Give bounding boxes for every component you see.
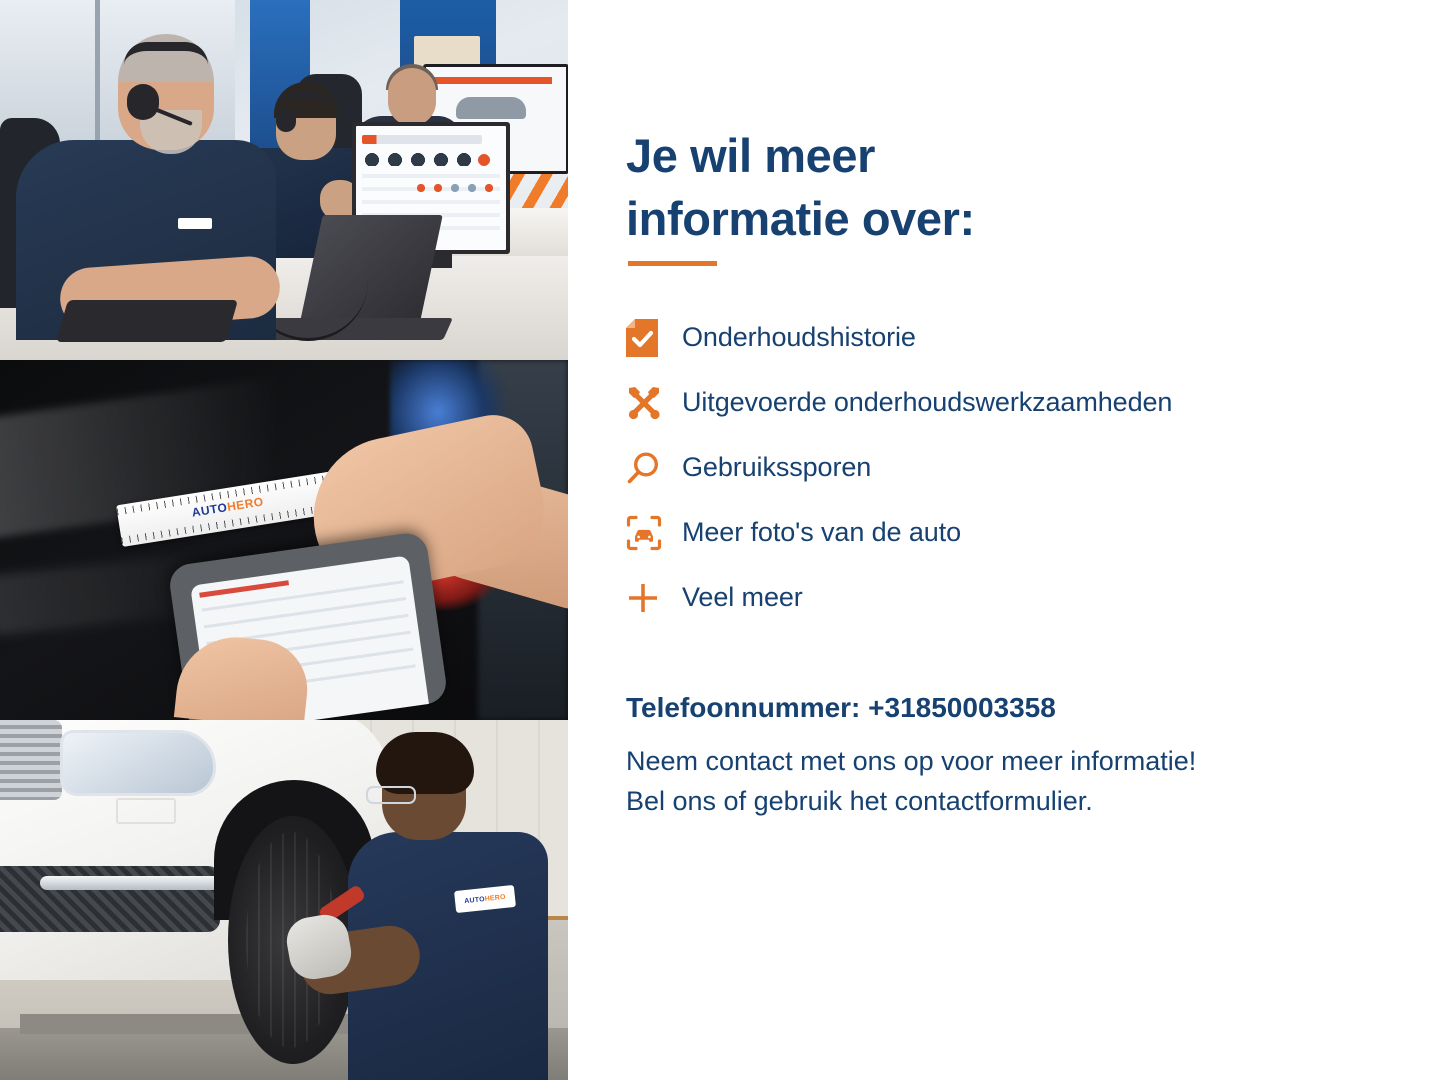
contact-body-copy: Neem contact met ons op voor meer inform… [626, 742, 1196, 821]
feature-label: Meer foto's van de auto [682, 517, 961, 548]
magnifier-icon [626, 451, 682, 485]
license-plate-decor [116, 798, 176, 824]
feature-label: Uitgevoerde onderhoudswerkzaamheden [682, 387, 1172, 418]
polo-brand-part2: HERO [484, 893, 506, 902]
car-inspection-ruler-photo: AUTOHERO [0, 360, 568, 720]
feature-label: Onderhoudshistorie [682, 322, 916, 353]
phone-number-line: Telefoonnummer: +31850003358 [626, 692, 1056, 724]
page-title: Je wil meer informatie over: [626, 125, 1106, 250]
plus-icon [626, 581, 682, 615]
feature-item-veel-meer: Veel meer [626, 565, 1366, 630]
agent-2-headset-cup-decor [276, 108, 296, 132]
agent-3-head-decor [388, 68, 436, 126]
car-chrome-trim-decor [40, 876, 220, 890]
feature-label: Gebruikssporen [682, 452, 871, 483]
feature-item-onderhoudshistorie: Onderhoudshistorie [626, 305, 1366, 370]
technician-hair-decor [376, 732, 474, 794]
tools-wrench-screwdriver-icon [626, 385, 682, 421]
agent-1-headset-band-decor [124, 42, 208, 65]
car-headlight-decor [60, 730, 216, 796]
content-panel: Je wil meer informatie over: We geven je… [568, 0, 1440, 1080]
photo-column: AUTOHERO [0, 0, 568, 1080]
technician-glasses-decor [366, 786, 416, 804]
ruler-brand-part1: AUTO [191, 500, 229, 519]
polo-brand-part1: AUTO [464, 896, 485, 905]
feature-list: Onderhoudshistorie Uitgevoerd [626, 305, 1366, 630]
car-scan-frame-icon [626, 515, 682, 551]
call-centre-agents-photo [0, 0, 568, 360]
agent-1-polo-logo-decor [178, 218, 212, 229]
car-grille-decor [0, 720, 62, 800]
feature-label: Veel meer [682, 582, 803, 613]
title-divider [628, 261, 717, 266]
technician-wheel-photo: AUTOHERO [0, 720, 568, 1080]
feature-item-onderhoudswerkzaamheden: Uitgevoerde onderhoudswerkzaamheden [626, 370, 1366, 435]
feature-item-meer-fotos: Meer foto's van de auto [626, 500, 1366, 565]
ruler-brand-part2: HERO [226, 494, 264, 514]
promo-banner: AUTOHERO [0, 0, 1440, 1080]
document-check-icon [626, 319, 682, 357]
feature-item-gebruikssporen: Gebruikssporen [626, 435, 1366, 500]
tablet-on-desk-decor [56, 300, 238, 342]
